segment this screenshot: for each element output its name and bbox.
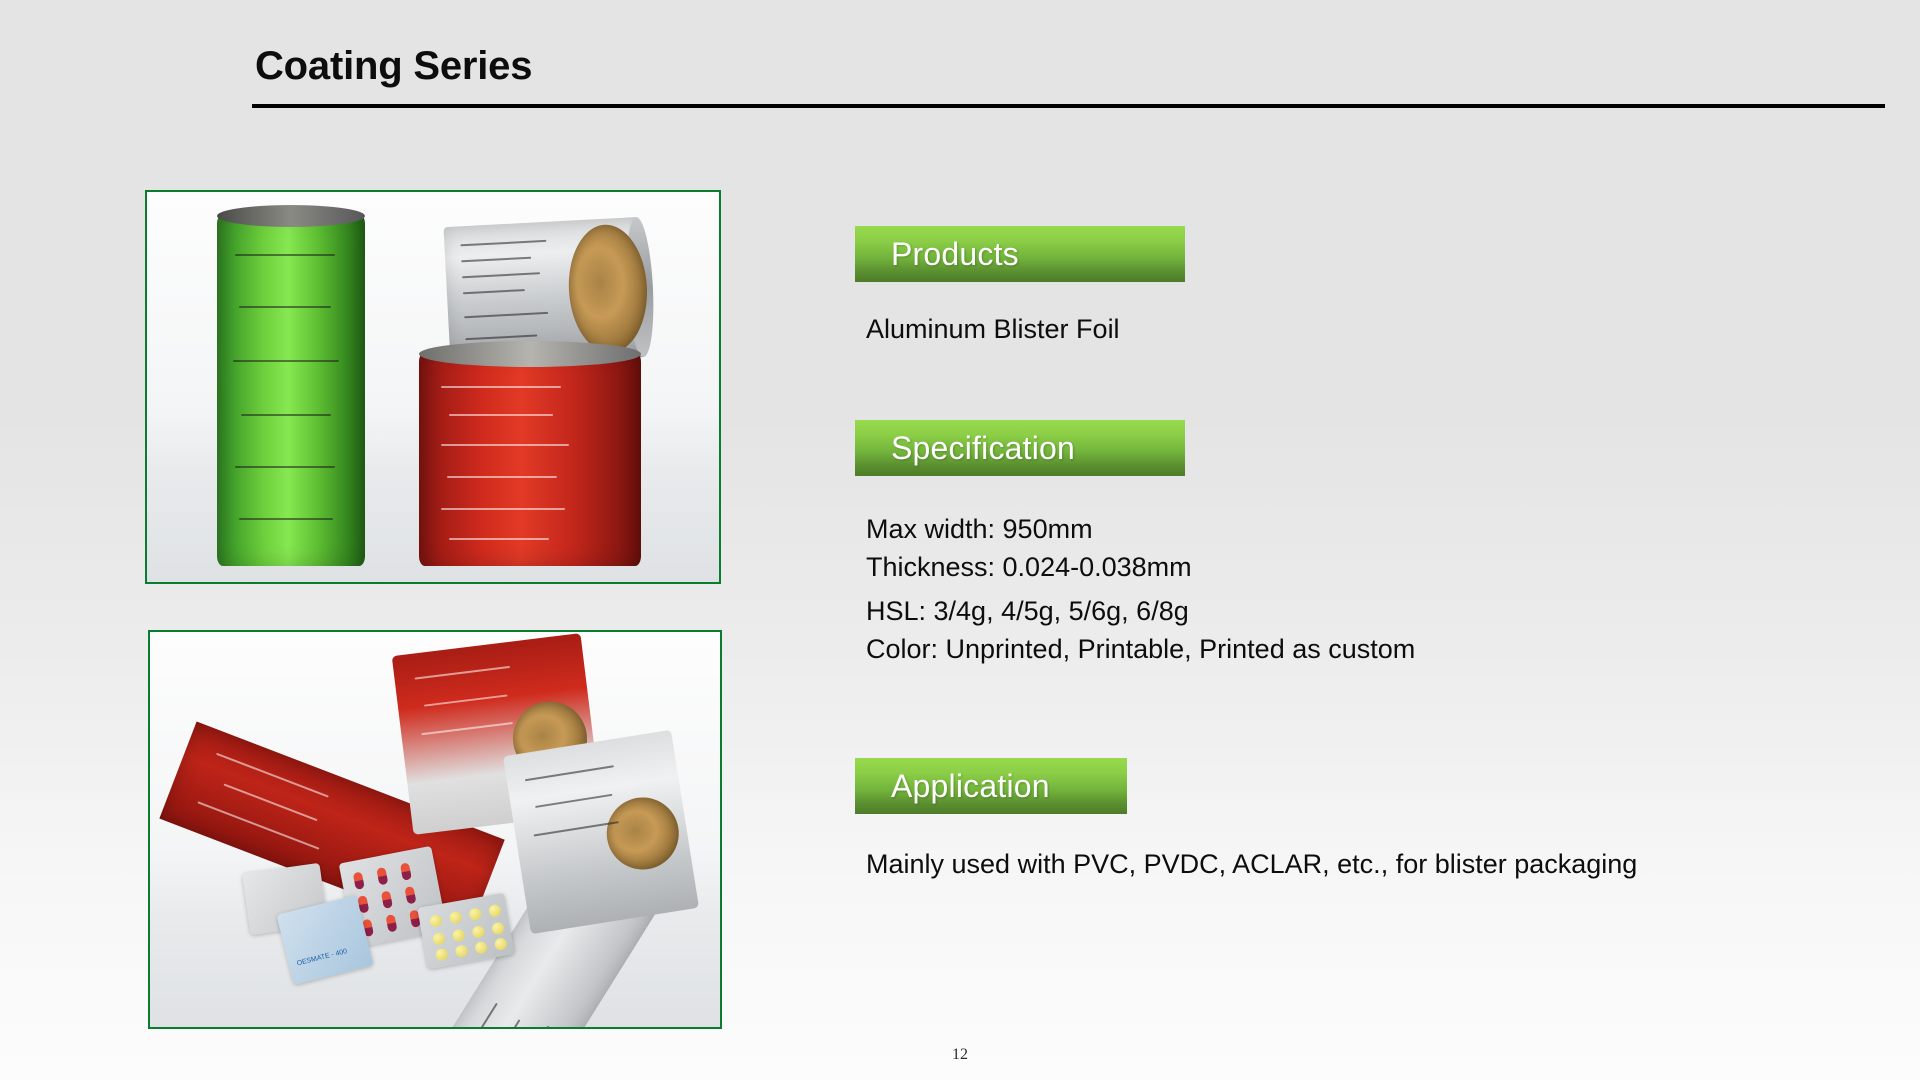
section-banner-application: Application — [855, 758, 1127, 814]
spec-line-hsl: HSL: 3/4g, 4/5g, 5/6g, 6/8g — [866, 592, 1415, 630]
tablet-pill — [474, 941, 488, 955]
tablet-pill — [452, 928, 466, 942]
print-line — [241, 414, 331, 416]
application-value-text: Mainly used with PVC, PVDC, ACLAR, etc.,… — [866, 840, 1796, 888]
capsule-pill — [376, 867, 388, 885]
print-line — [485, 1026, 549, 1029]
print-line — [216, 753, 329, 798]
print-line — [239, 306, 331, 308]
print-line — [447, 476, 557, 478]
product-photo-foil-rolls — [145, 190, 721, 584]
print-line — [235, 466, 335, 468]
tablet-pill — [488, 904, 502, 918]
tablet-pill — [435, 948, 449, 962]
print-line — [197, 801, 319, 849]
print-line — [239, 518, 333, 520]
print-line — [233, 360, 339, 362]
green-foil-roll — [217, 214, 365, 566]
page-number: 12 — [0, 1046, 1920, 1064]
print-line — [438, 1003, 498, 1029]
tablet-pill — [429, 914, 443, 928]
capsule-pill — [381, 891, 393, 909]
red-roll-top-rim — [419, 341, 641, 367]
spec-line-thickness: Thickness: 0.024-0.038mm — [866, 548, 1415, 586]
print-line — [449, 538, 549, 540]
section-banner-label: Products — [855, 236, 1019, 273]
section-banner-label: Specification — [855, 430, 1075, 467]
products-value-text: Aluminum Blister Foil — [866, 310, 1120, 348]
print-line — [235, 254, 335, 256]
title-underline-rule — [252, 104, 1885, 108]
photo-background — [147, 192, 719, 582]
section-banner-products: Products — [855, 226, 1185, 282]
red-roll-body — [419, 352, 641, 566]
print-line — [470, 1019, 520, 1029]
tablet-pill — [449, 911, 463, 925]
section-banner-label: Application — [855, 768, 1050, 805]
tablet-pill — [468, 907, 482, 921]
product-photo-blister-packs: OESMATE - 400 — [148, 630, 722, 1029]
blister-brand-label: OESMATE - 400 — [296, 948, 348, 967]
print-line — [441, 444, 569, 446]
green-roll-body — [217, 214, 365, 566]
tablet-pill — [454, 944, 468, 958]
capsule-pill — [385, 914, 397, 932]
red-foil-roll — [419, 352, 641, 566]
photo-background: OESMATE - 400 — [150, 632, 720, 1027]
specification-lines: Max width: 950mm Thickness: 0.024-0.038m… — [866, 510, 1415, 668]
tablet-pill — [494, 937, 508, 951]
print-line — [441, 386, 561, 388]
print-line — [449, 414, 553, 416]
tablet-pill — [432, 932, 446, 946]
silver-foil-roll-secondary — [503, 730, 699, 934]
tablet-pill — [471, 925, 485, 939]
spec-line-color: Color: Unprinted, Printable, Printed as … — [866, 630, 1415, 668]
green-roll-top-rim — [217, 205, 365, 227]
spec-line-max-width: Max width: 950mm — [866, 510, 1415, 548]
print-line — [441, 508, 565, 510]
tablet-pill — [491, 921, 505, 935]
slide-title-block: Coating Series — [0, 44, 1920, 114]
section-banner-specification: Specification — [855, 420, 1185, 476]
capsule-pill — [404, 886, 416, 904]
page-title: Coating Series — [255, 44, 532, 89]
capsule-pill — [400, 862, 412, 880]
capsule-pill — [353, 872, 365, 890]
